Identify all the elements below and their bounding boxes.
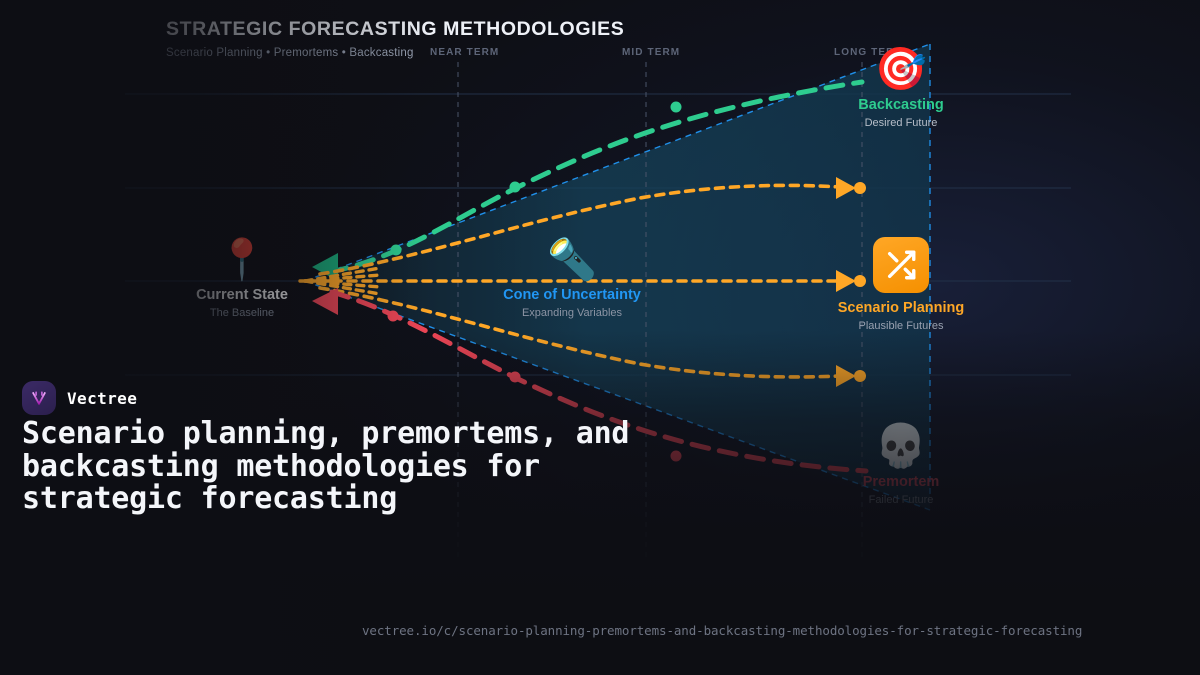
node-cone-of-uncertainty[interactable]: 🔦 Cone of Uncertainty Expanding Variable…	[492, 240, 652, 319]
flashlight-icon: 🔦	[492, 240, 652, 280]
node-scenario-planning-subtitle: Plausible Futures	[826, 320, 976, 332]
node-scenario-planning[interactable]: Scenario Planning Plausible Futures	[826, 237, 976, 332]
page-title: STRATEGIC FORECASTING METHODOLOGIES	[166, 18, 624, 41]
brand-block: Vectree	[22, 381, 137, 415]
page-url: vectree.io/c/scenario-planning-premortem…	[362, 623, 1082, 638]
node-cone-subtitle: Expanding Variables	[492, 307, 652, 319]
node-backcasting[interactable]: 🎯 Backcasting Desired Future	[826, 48, 976, 129]
time-marker-near-term: NEAR TERM	[430, 47, 499, 58]
brand-name: Vectree	[67, 389, 137, 408]
time-marker-mid-term: MID TERM	[622, 47, 680, 58]
shuffle-icon	[873, 237, 929, 293]
page-subtitle: Scenario Planning • Premortems • Backcas…	[166, 47, 624, 59]
node-current-state-label: Current State	[167, 287, 317, 303]
node-current-state-subtitle: The Baseline	[167, 307, 317, 319]
headline: Scenario planning, premortems, and backc…	[22, 418, 642, 516]
shuffle-glyph	[884, 248, 918, 282]
skull-icon: 💀	[826, 425, 976, 467]
header-block: STRATEGIC FORECASTING METHODOLOGIES Scen…	[166, 18, 624, 59]
node-scenario-planning-label: Scenario Planning	[826, 300, 976, 316]
pushpin-icon: 📍	[167, 240, 317, 280]
forecast-infographic: STRATEGIC FORECASTING METHODOLOGIES Scen…	[0, 0, 1200, 675]
node-cone-label: Cone of Uncertainty	[492, 287, 652, 303]
node-premortem-label: Premortem	[826, 474, 976, 490]
target-dart-icon: 🎯	[826, 48, 976, 90]
vectree-v-glyph	[29, 388, 49, 408]
node-premortem[interactable]: 💀 Premortem Failed Future	[826, 425, 976, 506]
vectree-v-logo	[22, 381, 56, 415]
chart-canvas	[0, 0, 1200, 675]
node-backcasting-subtitle: Desired Future	[826, 117, 976, 129]
node-premortem-subtitle: Failed Future	[826, 494, 976, 506]
node-backcasting-label: Backcasting	[826, 97, 976, 113]
node-current-state[interactable]: 📍 Current State The Baseline	[167, 240, 317, 319]
